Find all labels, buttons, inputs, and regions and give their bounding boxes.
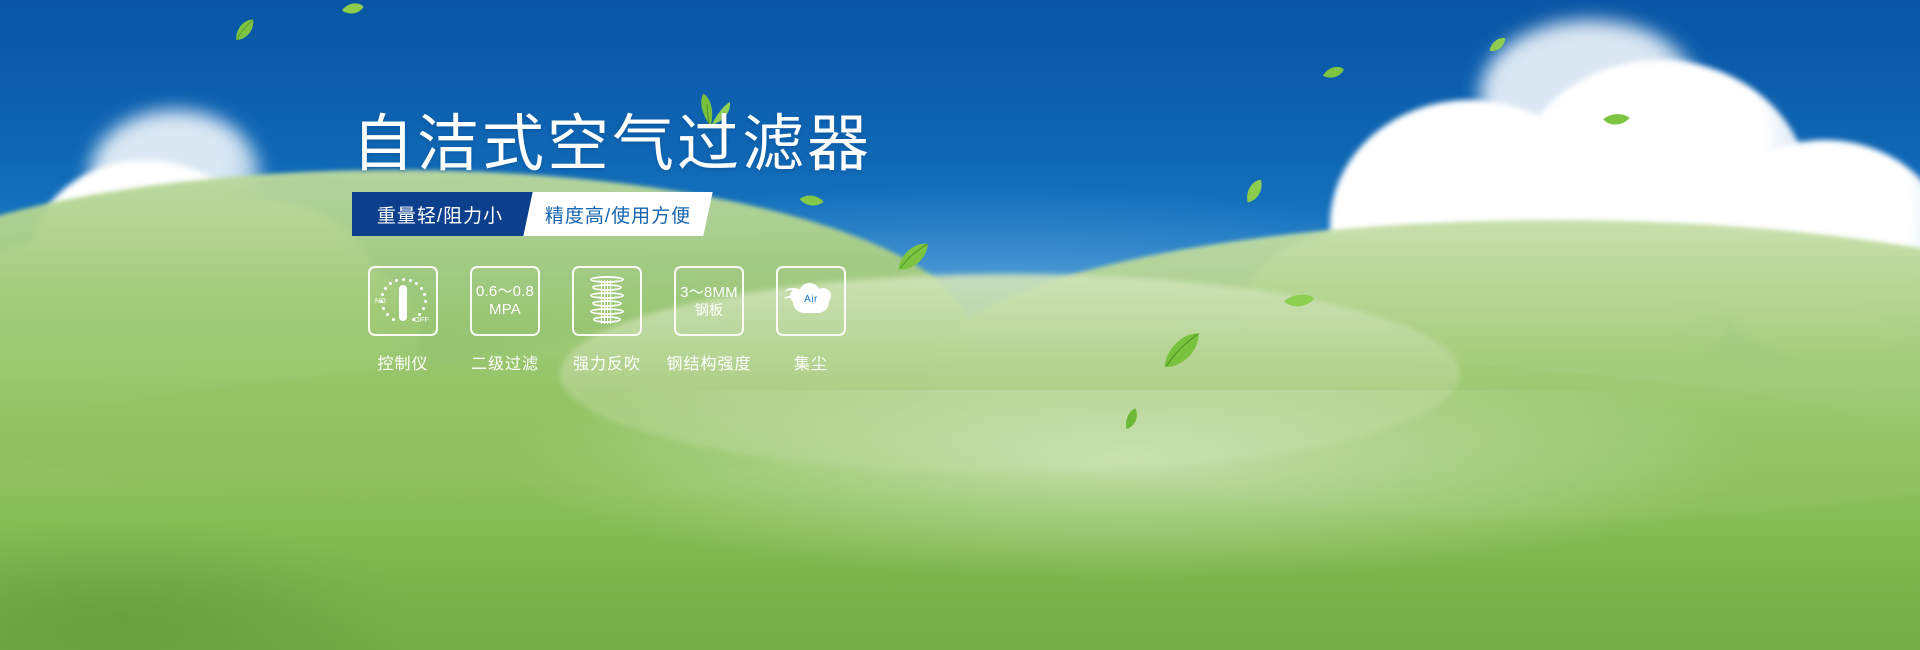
coil-filter-icon bbox=[586, 276, 628, 326]
banner-content: 自洁式空气过滤器 重量轻/阻力小 精度高/使用方便 bbox=[0, 0, 1920, 650]
feature-icon-box: NO OFF bbox=[368, 266, 438, 336]
steel-spec-line1: 3～8MM bbox=[680, 284, 738, 302]
feature-label-steel-strength: 钢结构强度 bbox=[658, 350, 760, 374]
feature-label-controller: 控制仪 bbox=[352, 350, 454, 374]
cloud-air-icon: Air bbox=[785, 281, 837, 321]
tag-precision-label: 精度高/使用方便 bbox=[545, 201, 691, 228]
air-label: Air bbox=[785, 294, 837, 305]
feature-item-backblow[interactable]: 强力反吹 bbox=[556, 266, 658, 374]
feature-icon-box: Air bbox=[776, 266, 846, 336]
gauge-label-off: OFF bbox=[414, 317, 429, 324]
steel-spec-line2: 钢板 bbox=[695, 302, 723, 319]
product-banner: 自洁式空气过滤器 重量轻/阻力小 精度高/使用方便 bbox=[0, 0, 1920, 650]
feature-icon-box: 0.6～0.8 MPA bbox=[470, 266, 540, 336]
feature-item-controller[interactable]: NO OFF 控制仪 bbox=[352, 266, 454, 374]
gauge-needle bbox=[399, 285, 407, 321]
feature-label-backblow: 强力反吹 bbox=[556, 350, 658, 374]
pressure-value-line1: 0.6～0.8 bbox=[476, 283, 534, 301]
feature-item-steel-strength[interactable]: 3～8MM 钢板 钢结构强度 bbox=[658, 266, 760, 374]
feature-label-secondary-filtration: 二级过滤 bbox=[454, 350, 556, 374]
feature-icon-box: 3～8MM 钢板 bbox=[674, 266, 744, 336]
feature-item-secondary-filtration[interactable]: 0.6～0.8 MPA 二级过滤 bbox=[454, 266, 556, 374]
gauge-label-no: NO bbox=[375, 298, 386, 305]
tag-precision[interactable]: 精度高/使用方便 bbox=[523, 192, 712, 236]
tag-lightweight[interactable]: 重量轻/阻力小 bbox=[352, 192, 528, 236]
gauge-icon: NO OFF bbox=[376, 277, 430, 325]
feature-label-dust-collection: 集尘 bbox=[760, 350, 862, 374]
pressure-value-line2: MPA bbox=[489, 301, 521, 319]
feature-item-dust-collection[interactable]: Air 集尘 bbox=[760, 266, 862, 374]
feature-icon-box bbox=[572, 266, 642, 336]
feature-icon-row: NO OFF 控制仪 0.6～0.8 MPA 二级过滤 bbox=[352, 266, 862, 374]
page-title: 自洁式空气过滤器 bbox=[352, 114, 872, 176]
